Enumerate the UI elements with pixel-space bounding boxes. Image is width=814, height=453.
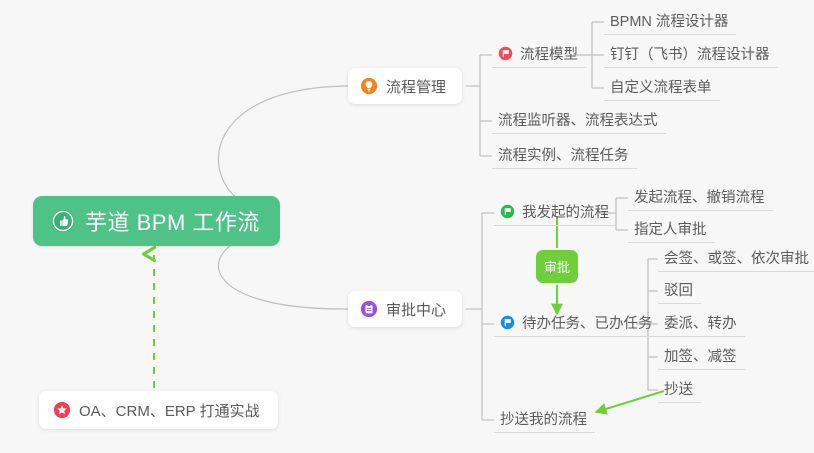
node-dingtalk-designer-label: 钉钉（飞书）流程设计器	[610, 43, 770, 64]
node-countersign-modes-label: 会签、或签、依次审批	[664, 247, 809, 268]
node-my-initiated-label: 我发起的流程	[522, 201, 609, 222]
node-todo-done-tasks[interactable]: 待办任务、已办任务	[494, 312, 661, 337]
node-instance-task-label: 流程实例、流程任务	[498, 144, 629, 165]
node-cc-to-me-label: 抄送我的流程	[500, 408, 587, 429]
node-listener-expression[interactable]: 流程监听器、流程表达式	[492, 109, 666, 134]
node-custom-form[interactable]: 自定义流程表单	[604, 76, 720, 101]
approval-badge: 审批	[536, 250, 578, 283]
purple-clipboard-icon	[360, 300, 378, 318]
node-bpmn-designer-label: BPMN 流程设计器	[610, 10, 728, 31]
orange-lightbulb-icon	[360, 77, 378, 95]
green-flag-icon	[500, 204, 515, 219]
node-custom-form-label: 自定义流程表单	[610, 76, 712, 97]
node-process-model[interactable]: 流程模型	[492, 43, 586, 68]
node-my-initiated[interactable]: 我发起的流程	[494, 201, 617, 226]
mindmap-canvas: 芋道 BPM 工作流 流程管理 流程模型 BPMN 流程设计器 钉钉（飞书）流程	[0, 0, 814, 453]
node-add-remove-sign-label: 加签、减签	[664, 345, 737, 366]
node-reject[interactable]: 驳回	[658, 279, 701, 304]
node-cc-label: 抄送	[664, 378, 693, 399]
approval-badge-label: 审批	[544, 257, 570, 276]
red-star-icon	[53, 401, 71, 419]
root-node[interactable]: 芋道 BPM 工作流	[33, 196, 280, 246]
node-bottom-note[interactable]: OA、CRM、ERP 打通实战	[39, 391, 278, 429]
node-cc-to-me[interactable]: 抄送我的流程	[494, 408, 595, 433]
node-start-cancel-process-label: 发起流程、撤销流程	[634, 186, 765, 207]
node-delegate-transfer[interactable]: 委派、转办	[658, 312, 745, 337]
thumbs-up-icon	[51, 209, 75, 233]
node-process-management[interactable]: 流程管理	[348, 68, 462, 104]
node-assignee-approval-label: 指定人审批	[634, 218, 707, 239]
node-process-management-label: 流程管理	[386, 76, 446, 97]
node-countersign-modes[interactable]: 会签、或签、依次审批	[658, 247, 814, 272]
node-dingtalk-designer[interactable]: 钉钉（飞书）流程设计器	[604, 43, 778, 68]
edge-root-to-process-management	[218, 86, 348, 214]
node-listener-expression-label: 流程监听器、流程表达式	[498, 109, 658, 130]
arrow-cc-to-ccme	[596, 391, 664, 412]
node-cc[interactable]: 抄送	[658, 378, 701, 403]
root-label: 芋道 BPM 工作流	[85, 205, 260, 237]
node-approval-center[interactable]: 审批中心	[348, 291, 462, 327]
node-bottom-note-label: OA、CRM、ERP 打通实战	[79, 400, 260, 421]
node-bpmn-designer[interactable]: BPMN 流程设计器	[604, 10, 736, 35]
node-delegate-transfer-label: 委派、转办	[664, 312, 737, 333]
node-approval-center-label: 审批中心	[386, 299, 446, 320]
node-add-remove-sign[interactable]: 加签、减签	[658, 345, 745, 370]
node-reject-label: 驳回	[664, 279, 693, 300]
blue-flag-icon	[500, 315, 515, 330]
node-process-model-label: 流程模型	[520, 43, 578, 64]
node-start-cancel-process[interactable]: 发起流程、撤销流程	[628, 186, 773, 211]
node-instance-task[interactable]: 流程实例、流程任务	[492, 144, 637, 169]
node-todo-done-tasks-label: 待办任务、已办任务	[522, 312, 653, 333]
node-assignee-approval[interactable]: 指定人审批	[628, 218, 715, 243]
red-flag-icon	[498, 46, 513, 61]
